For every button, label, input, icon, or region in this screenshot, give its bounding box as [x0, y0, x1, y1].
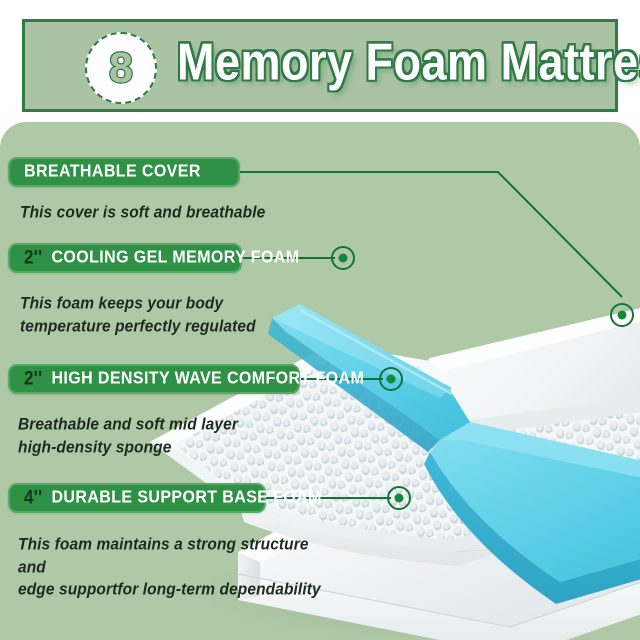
- label-pill-cooling-gel[interactable]: 2'' COOLING GEL MEMORY FOAM: [8, 243, 242, 273]
- step-number-text: 8: [109, 47, 133, 90]
- label-size-base-foam: 4'': [24, 487, 42, 509]
- breathable-cover-layer: [392, 294, 640, 438]
- label-size-wave-comfort: 2'': [24, 368, 42, 390]
- page-title: Memory Foam Mattress: [177, 32, 640, 92]
- infographic-page: 8 Memory Foam Mattress: [0, 0, 640, 640]
- label-size-cooling-gel: 2'': [24, 247, 42, 269]
- label-text-breathable-cover: BREATHABLE COVER: [24, 162, 201, 182]
- marker-cooling-gel: [332, 247, 354, 269]
- label-text-wave-comfort: HIGH DENSITY WAVE COMFORT FOAM: [51, 369, 364, 389]
- marker-base-foam: [388, 487, 410, 509]
- label-pill-breathable-cover[interactable]: BREATHABLE COVER: [8, 157, 240, 187]
- leader-line-breathable-cover: [238, 172, 622, 297]
- label-text-base-foam: DURABLE SUPPORT BASE FOAM: [51, 488, 321, 508]
- label-pill-wave-comfort[interactable]: 2'' HIGH DENSITY WAVE COMFORT FOAM: [8, 364, 300, 394]
- marker-breathable-cover: [611, 304, 633, 326]
- step-number-badge: 8: [85, 32, 157, 104]
- content-panel: BREATHABLE COVER This cover is soft and …: [0, 122, 640, 640]
- description-wave-comfort: Breathable and soft mid layer high-densi…: [18, 414, 308, 459]
- label-text-cooling-gel: COOLING GEL MEMORY FOAM: [51, 248, 299, 268]
- description-cooling-gel: This foam keeps your body temperature pe…: [20, 293, 300, 338]
- marker-wave-comfort: [380, 368, 402, 390]
- description-breathable-cover: This cover is soft and breathable: [20, 202, 300, 225]
- header-bar: 8 Memory Foam Mattress: [22, 19, 618, 112]
- label-pill-base-foam[interactable]: 4'' DURABLE SUPPORT BASE FOAM: [8, 483, 266, 513]
- description-base-foam: This foam maintains a strong structure a…: [18, 534, 338, 602]
